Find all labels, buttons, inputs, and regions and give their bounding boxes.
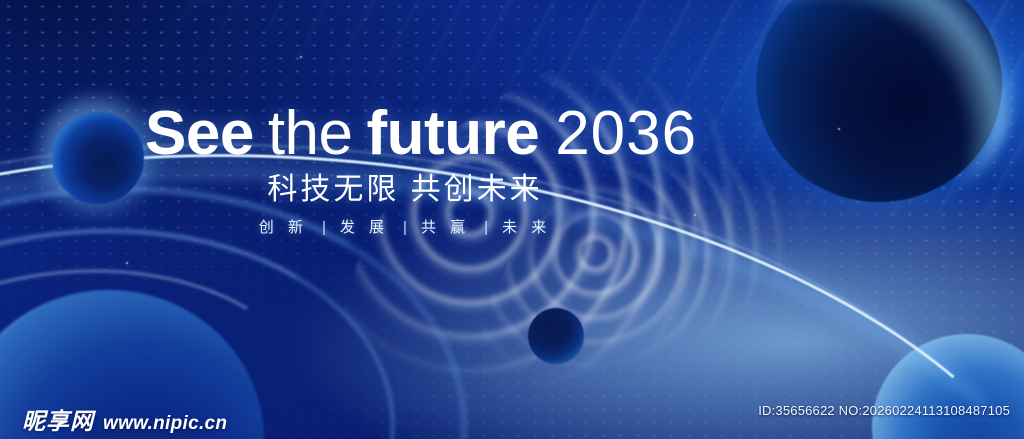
sparkle-dot	[694, 214, 696, 216]
nipic-url-text[interactable]: www.nipic.cn	[103, 413, 227, 435]
watermark-brand[interactable]: 昵享网 www.nipic.cn	[22, 402, 227, 436]
sparkle-dot	[126, 262, 128, 264]
nipic-logo-text: 昵享网	[22, 402, 94, 436]
sphere-center	[528, 308, 584, 364]
sparkle-dot	[838, 128, 840, 130]
sphere-left	[52, 112, 144, 204]
banner-image: Seethefuture2036 科技无限 共创未来 创 新 | 发 展 | 共…	[0, 0, 1024, 439]
sparkle-dot	[300, 56, 302, 58]
watermark-id-text: ID:35656622 NO:20260224113108487105	[758, 403, 1010, 418]
